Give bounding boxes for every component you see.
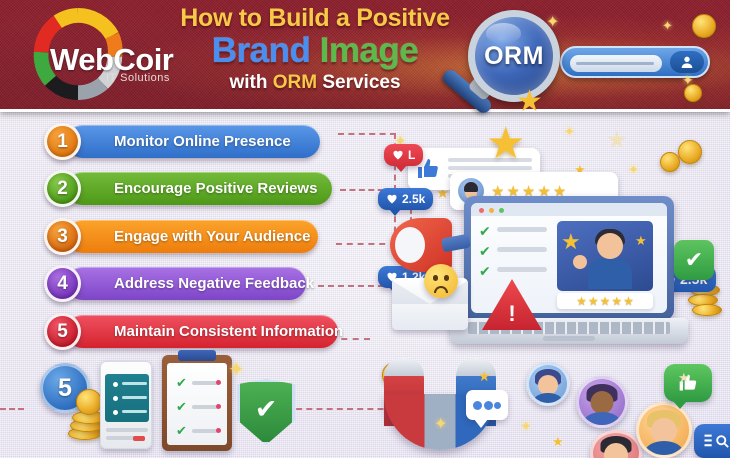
green-check-icon: ✔ — [674, 240, 714, 280]
user-avatar — [576, 376, 628, 428]
star-icon: ★ — [486, 122, 525, 166]
step-label-3: Engage with Your Audience — [114, 228, 310, 245]
chat-bubble-icon — [466, 390, 508, 420]
infographic-canvas: WebCoir IT Solutions How to Build a Posi… — [0, 0, 730, 458]
magnet-tip-left — [384, 358, 424, 376]
check-icon: ✔ — [479, 223, 492, 236]
step-bar-2[interactable]: Encourage Positive Reviews — [66, 172, 332, 205]
coin-icon — [678, 140, 702, 164]
step-bar-5[interactable]: Maintain Consistent Information — [66, 315, 338, 348]
hearts-badge-value: 2.5k — [402, 192, 425, 206]
check-icon: ✔ — [479, 243, 492, 256]
search-user-icon[interactable] — [670, 51, 704, 73]
step-bar-4[interactable]: Address Negative Feedback — [66, 267, 306, 300]
mobile-report-icon — [100, 361, 152, 449]
sparkle-icon: ✦ — [662, 18, 673, 34]
avatar-body — [588, 259, 632, 289]
coin-icon — [684, 84, 702, 102]
headline-brand-word: Brand — [212, 31, 311, 70]
window-maximize-dot — [499, 208, 504, 213]
bottom-left-illustration: 5 ✔ ✔ ✔ — [22, 355, 312, 455]
clipboard-clip — [178, 350, 216, 361]
orm-magnifier-illustration: ORM ★ ✦ ✦ ✦ — [430, 0, 730, 112]
step-label-1: Monitor Online Presence — [114, 133, 291, 150]
green-check-glyph: ✔ — [685, 247, 703, 273]
step-label-4: Address Negative Feedback — [114, 275, 314, 292]
check-icon: ✔ — [176, 425, 188, 437]
laptop-screen: ✔ ✔ ✔ ★ ★ — [471, 203, 667, 313]
orm-badge-label: ORM — [468, 10, 560, 102]
star-icon: ★ — [678, 370, 690, 386]
connector-bottom-left — [0, 408, 24, 410]
clipboard-page: ✔ ✔ ✔ — [167, 363, 227, 445]
star-icon: ★ — [600, 295, 611, 307]
star-icon: ★ — [478, 368, 491, 385]
step-number-3: 3 — [57, 226, 68, 248]
step-number-1: 1 — [57, 131, 68, 153]
megaphone-inner — [395, 227, 425, 263]
warning-glyph: ! — [508, 301, 515, 327]
step-badge-5: 5 — [44, 313, 81, 350]
step-number-4: 4 — [57, 273, 68, 295]
headline-with-word: with — [229, 72, 267, 93]
laptop-lid: ✔ ✔ ✔ ★ ★ — [464, 196, 674, 320]
screen-star-rating: ★ ★ ★ ★ ★ — [557, 293, 653, 309]
user-avatar — [636, 402, 692, 458]
right-illustration: ✦ ✦ ✦ ✦ ★ ★ ★ ★ ★ ★ ★ ★ — [378, 118, 730, 458]
star-icon: ★ — [623, 295, 634, 307]
step-badge-2: 2 — [44, 170, 81, 207]
likes-badge-value: L — [408, 148, 415, 162]
headline-orm-word: ORM — [273, 72, 317, 93]
check-icon: ✔ — [176, 401, 188, 413]
star-icon: ★ — [635, 233, 647, 249]
user-avatar — [526, 362, 570, 406]
coin-icon — [660, 152, 680, 172]
star-icon: ★ — [606, 126, 628, 155]
check-icon: ✔ — [176, 377, 188, 389]
star-icon: ★ — [516, 84, 543, 119]
hearts-badge: 2.5k — [378, 188, 433, 210]
check-icon: ✔ — [479, 263, 492, 276]
heart-icon — [392, 149, 404, 161]
search-text-line — [576, 62, 654, 65]
laptop-base — [450, 318, 688, 344]
step-badge-1: 1 — [44, 123, 81, 160]
step-badge-3: 3 — [44, 218, 81, 255]
avatar-hand — [573, 255, 587, 269]
likes-badge: L — [384, 144, 423, 166]
laptop-trackpad — [543, 336, 595, 341]
star-icon: ★ — [611, 295, 622, 307]
megaphone-icon — [390, 218, 470, 272]
avatar-face — [597, 233, 623, 259]
search-bubble — [694, 424, 730, 458]
step-bar-3[interactable]: Engage with Your Audience — [66, 220, 318, 253]
step-badge-4: 4 — [44, 265, 81, 302]
step-label-5: Maintain Consistent Information — [114, 323, 343, 340]
search-bar-graphic[interactable] — [560, 46, 710, 78]
bottom-step-number: 5 — [58, 374, 72, 403]
sparkle-icon: ✦ — [628, 162, 639, 178]
shield-check-glyph: ✔ — [255, 396, 278, 423]
shield-check-icon: ✔ — [237, 379, 295, 445]
video-review-card: ★ ★ — [557, 221, 653, 291]
window-minimize-dot — [489, 208, 494, 213]
star-icon: ★ — [552, 434, 564, 450]
step-number-5: 5 — [57, 321, 68, 343]
list-icon — [704, 433, 713, 449]
search-icon — [715, 434, 730, 449]
step-label-2: Encourage Positive Reviews — [114, 180, 317, 197]
step-bar-1[interactable]: Monitor Online Presence — [66, 125, 320, 158]
star-icon: ★ — [588, 295, 599, 307]
header-banner: WebCoir IT Solutions How to Build a Posi… — [0, 0, 730, 112]
clipboard-checklist-icon: ✔ ✔ ✔ — [162, 355, 232, 451]
headline-image-word: Image — [320, 31, 419, 70]
window-close-dot — [479, 208, 484, 213]
step-number-2: 2 — [57, 178, 68, 200]
sad-emoji-icon — [424, 264, 458, 298]
steps-list: Monitor Online Presence 1 Encourage Posi… — [0, 112, 380, 352]
magnifying-glass-icon: ORM — [460, 8, 564, 112]
phone-accent — [133, 436, 145, 441]
star-icon: ★ — [561, 229, 581, 255]
star-icon: ★ — [576, 295, 587, 307]
coin-icon — [692, 14, 716, 38]
headline-services-word: Services — [322, 72, 400, 93]
phone-screen — [105, 374, 149, 422]
heart-icon — [386, 193, 398, 205]
sparkle-icon: ✦ — [564, 124, 575, 140]
user-avatar — [590, 430, 642, 458]
coin-icon — [692, 304, 722, 316]
